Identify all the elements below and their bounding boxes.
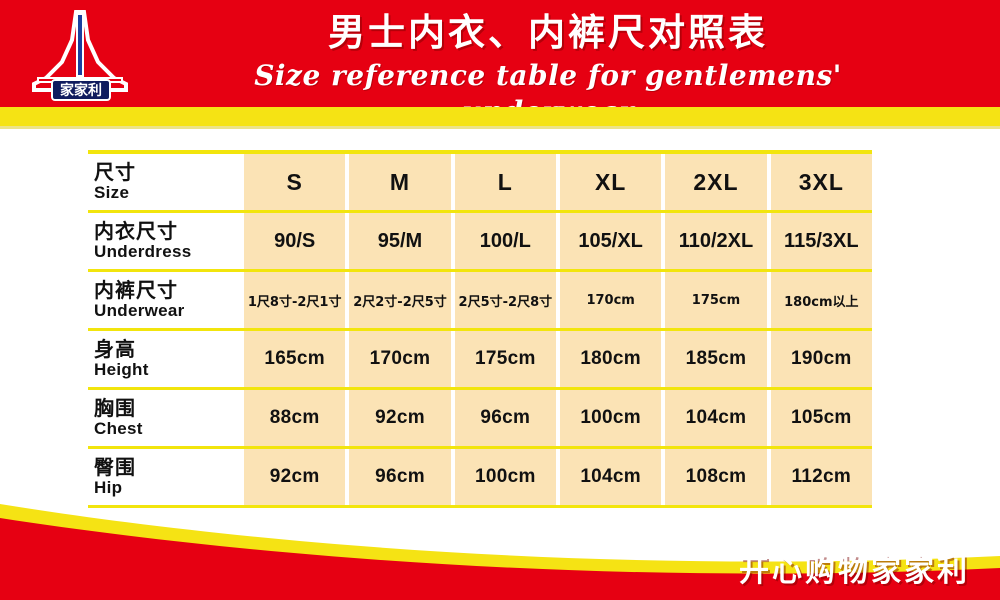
table-cell: 180cm: [560, 331, 661, 387]
table-cell: 175cm: [455, 331, 556, 387]
footer-slogan: 开心购物家家利: [739, 546, 970, 590]
table-cell: 2尺2寸-2尺5寸: [349, 272, 450, 328]
table-cell: 104cm: [665, 390, 766, 446]
table-cell: 165cm: [244, 331, 345, 387]
table-cell: 190cm: [771, 331, 872, 387]
row-label-cn: 身高: [94, 338, 240, 360]
row-label-cn: 尺寸: [94, 161, 240, 183]
header-stripe-shadow: [0, 126, 1000, 129]
table-cell: 185cm: [665, 331, 766, 387]
row-label: 尺寸Size: [88, 154, 240, 210]
row-label: 内裤尺寸Underwear: [88, 272, 240, 328]
table-cell: 100cm: [560, 390, 661, 446]
row-label-en: Size: [94, 183, 240, 203]
row-cells: 165cm170cm175cm180cm185cm190cm: [240, 331, 872, 387]
row-cells: 90/S95/M100/L105/XL110/2XL115/3XL: [240, 213, 872, 269]
row-label: 身高Height: [88, 331, 240, 387]
table-cell: XL: [560, 154, 661, 210]
row-label-cn: 内衣尺寸: [94, 220, 240, 242]
table-row: 身高Height165cm170cm175cm180cm185cm190cm: [88, 331, 872, 387]
row-label-cn: 胸围: [94, 397, 240, 419]
top-banner: 家家利 男士内衣、内裤尺对照表 Size reference table for…: [0, 0, 1000, 107]
table-row: 尺寸SizeSMLXL2XL3XL: [88, 154, 872, 210]
table-cell: 115/3XL: [771, 213, 872, 269]
table-row: 胸围Chest88cm92cm96cm100cm104cm105cm: [88, 390, 872, 446]
table-cell: 88cm: [244, 390, 345, 446]
row-label-cn: 内裤尺寸: [94, 279, 240, 301]
table-cell: L: [455, 154, 556, 210]
table-cell: S: [244, 154, 345, 210]
logo-text: 家家利: [60, 82, 102, 99]
header-yellow-stripe: [0, 107, 1000, 126]
row-cells: SMLXL2XL3XL: [240, 154, 872, 210]
table-cell: 92cm: [349, 390, 450, 446]
size-chart-page: 家家利 男士内衣、内裤尺对照表 Size reference table for…: [0, 0, 1000, 600]
table-cell: 96cm: [455, 390, 556, 446]
row-label: 内衣尺寸Underdress: [88, 213, 240, 269]
table-cell: 90/S: [244, 213, 345, 269]
table-cell: 100/L: [455, 213, 556, 269]
row-label-en: Underwear: [94, 301, 240, 321]
table-cell: 3XL: [771, 154, 872, 210]
table-cell: 95/M: [349, 213, 450, 269]
title-block: 男士内衣、内裤尺对照表 Size reference table for gen…: [238, 8, 858, 104]
table-row: 内衣尺寸Underdress90/S95/M100/L105/XL110/2XL…: [88, 213, 872, 269]
row-label-en: Height: [94, 360, 240, 380]
table-cell: 105cm: [771, 390, 872, 446]
row-label-en: Chest: [94, 419, 240, 439]
row-cells: 1尺8寸-2尺1寸2尺2寸-2尺5寸2尺5寸-2尺8寸170cm175cm180…: [240, 272, 872, 328]
table-cell: 170cm: [349, 331, 450, 387]
bottom-banner: 开心购物家家利: [0, 490, 1000, 600]
table-cell: 1尺8寸-2尺1寸: [244, 272, 345, 328]
page-title-en: Size reference table for gentlemens' und…: [238, 58, 858, 107]
table-cell: 180cm以上: [771, 272, 872, 328]
table-cell: M: [349, 154, 450, 210]
row-label-en: Underdress: [94, 242, 240, 262]
table-cell: 170cm: [560, 272, 661, 328]
table-cell: 2XL: [665, 154, 766, 210]
table-cell: 175cm: [665, 272, 766, 328]
table-cell: 105/XL: [560, 213, 661, 269]
page-title-cn: 男士内衣、内裤尺对照表: [238, 8, 858, 58]
brand-logo: 家家利: [22, 6, 138, 102]
table-cell: 2尺5寸-2尺8寸: [455, 272, 556, 328]
size-table: 尺寸SizeSMLXL2XL3XL内衣尺寸Underdress90/S95/M1…: [88, 150, 872, 490]
table-row: 内裤尺寸Underwear1尺8寸-2尺1寸2尺2寸-2尺5寸2尺5寸-2尺8寸…: [88, 272, 872, 328]
table-cell: 110/2XL: [665, 213, 766, 269]
row-label: 胸围Chest: [88, 390, 240, 446]
row-label-cn: 臀围: [94, 456, 240, 478]
row-cells: 88cm92cm96cm100cm104cm105cm: [240, 390, 872, 446]
